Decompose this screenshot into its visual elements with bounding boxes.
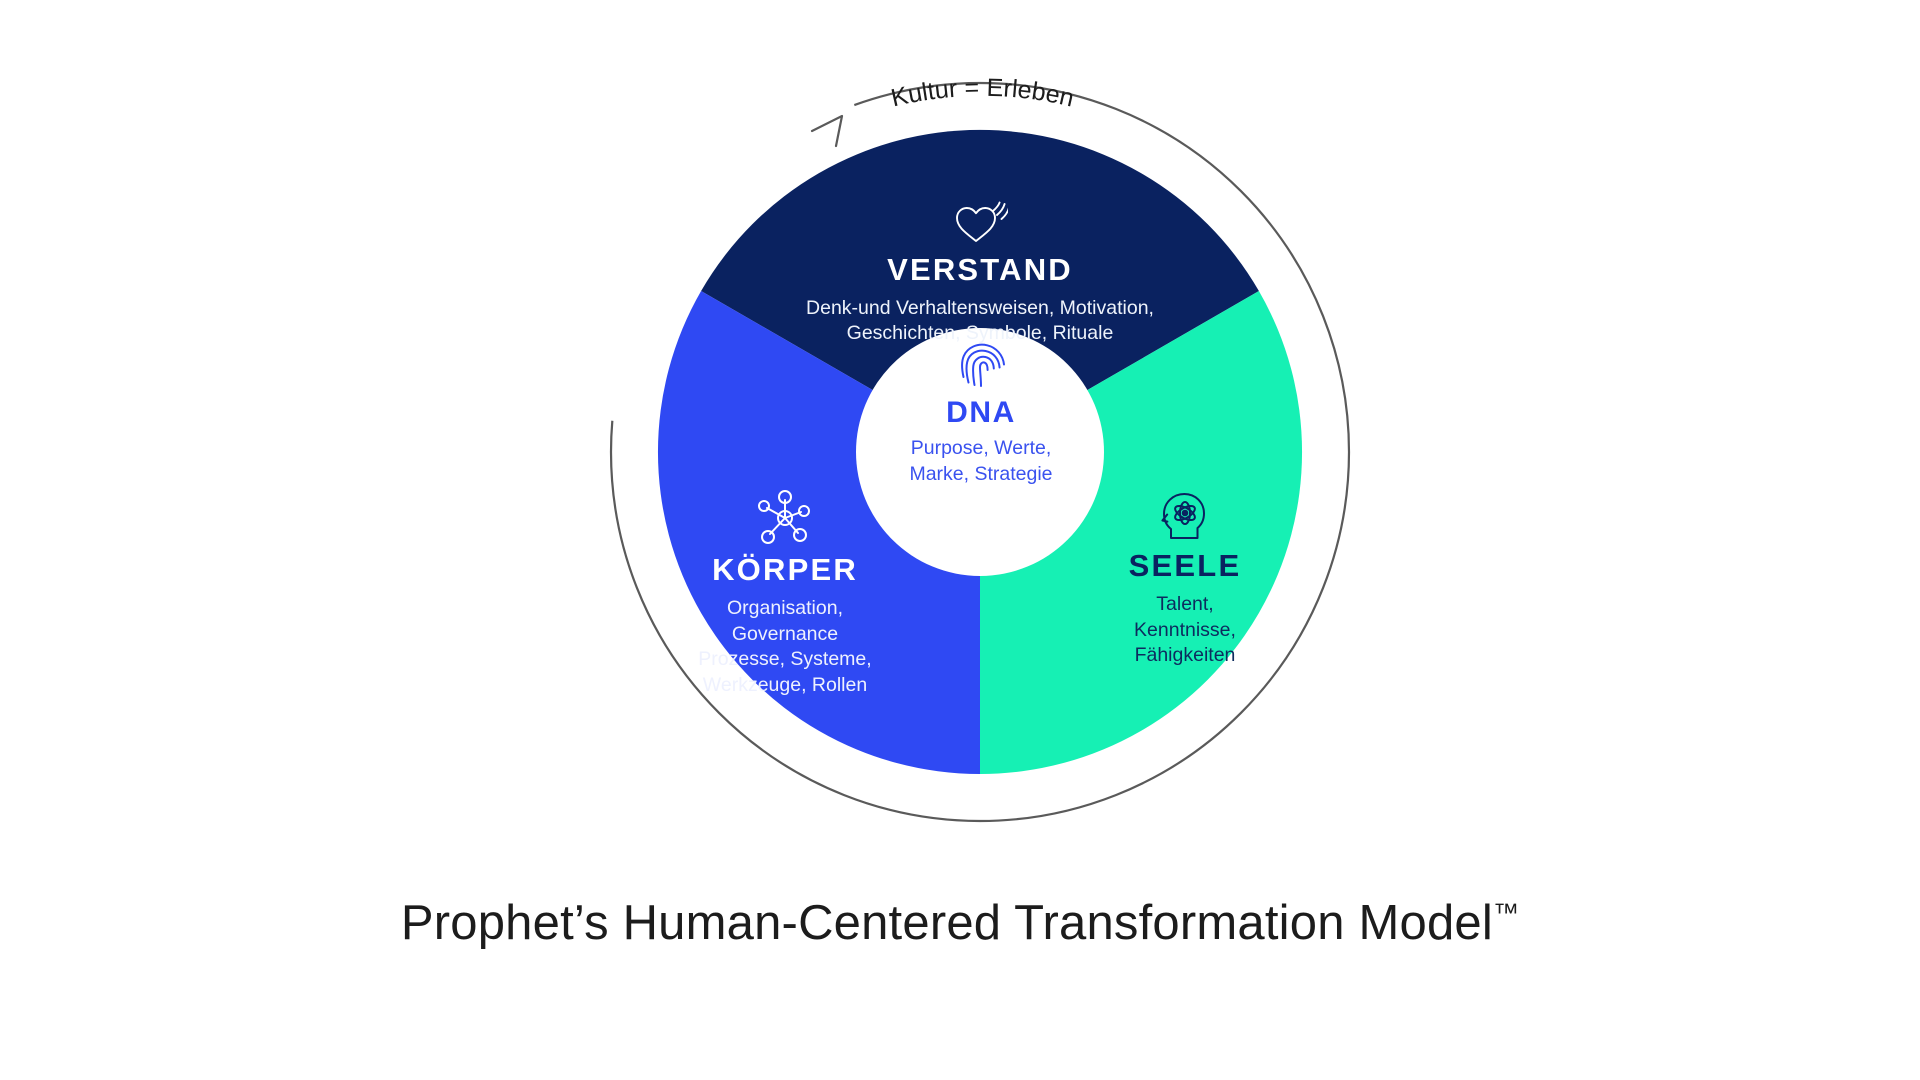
segment-desc-line: Werkzeuge, Rollen: [630, 673, 940, 699]
orbit-caption: Kultur = Erleben: [888, 74, 1076, 113]
diagram-canvas: Kultur = Erleben VERSTAND Denk-und Verha…: [0, 0, 1920, 1080]
segment-description: Talent, Kenntnisse, Fähigkeiten: [1060, 592, 1310, 670]
page-title: Prophet’s Human-Centered Transformation …: [0, 895, 1920, 951]
segment-verstand-content[interactable]: VERSTAND Denk-und Verhaltensweisen, Moti…: [700, 200, 1260, 347]
heart-signal-icon: [700, 200, 1260, 248]
segment-seele-content[interactable]: SEELE Talent, Kenntnisse, Fähigkeiten: [1060, 490, 1310, 669]
segment-desc-line: Governance: [630, 622, 940, 648]
network-nodes-icon: [630, 488, 940, 548]
segment-title: SEELE: [1060, 548, 1310, 585]
segment-koerper-content[interactable]: KÖRPER Organisation, Governance Prozesse…: [630, 488, 940, 699]
segment-desc-line: Fähigkeiten: [1060, 643, 1310, 669]
segment-desc-line: Talent,: [1060, 592, 1310, 618]
segment-desc-line: Denk-und Verhaltensweisen, Motivation,: [700, 296, 1260, 322]
fingerprint-icon: [856, 340, 1106, 394]
segment-desc-line: Kenntnisse,: [1060, 618, 1310, 644]
core-title: DNA: [856, 396, 1106, 430]
core-dna-content[interactable]: DNA Purpose, Werte, Marke, Strategie: [856, 340, 1106, 488]
core-description: Purpose, Werte, Marke, Strategie: [856, 436, 1106, 488]
core-desc-line: Marke, Strategie: [856, 462, 1106, 488]
head-atom-icon: [1060, 490, 1310, 544]
segment-title: KÖRPER: [630, 552, 940, 589]
segment-title: VERSTAND: [700, 252, 1260, 289]
segment-description: Organisation, Governance Prozesse, Syste…: [630, 596, 940, 700]
segment-desc-line: Organisation,: [630, 596, 940, 622]
trademark-symbol: ™: [1493, 898, 1519, 928]
segment-desc-line: Prozesse, Systeme,: [630, 647, 940, 673]
arrow-head-icon: [812, 116, 842, 146]
caption-text: Prophet’s Human-Centered Transformation …: [401, 896, 1493, 950]
core-desc-line: Purpose, Werte,: [856, 436, 1106, 462]
